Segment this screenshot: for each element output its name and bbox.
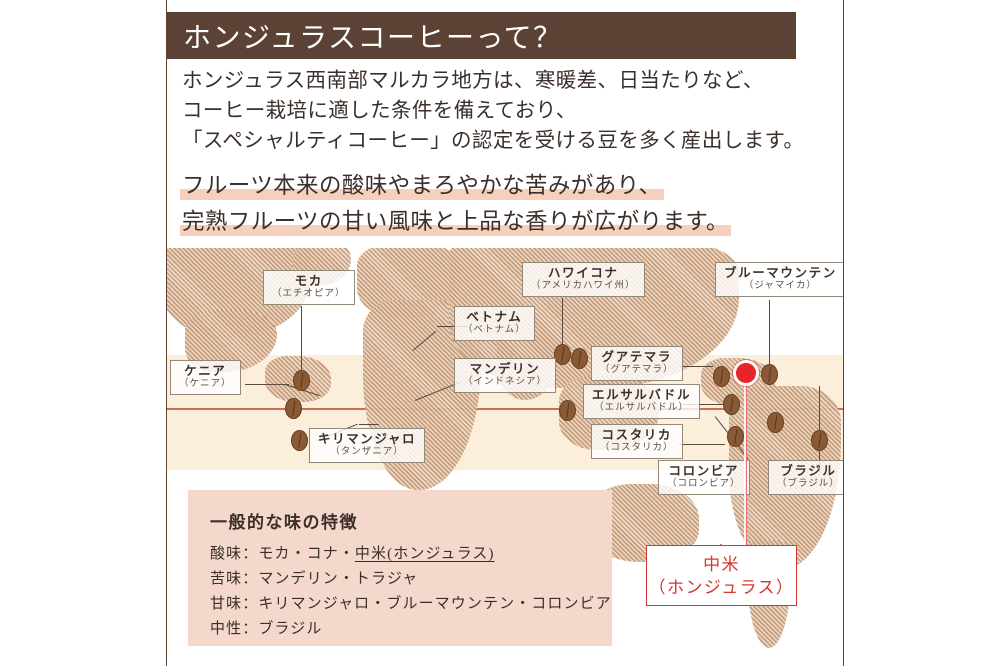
label-kenya[interactable]: ケニア （ケニア） xyxy=(170,360,241,395)
marker-vietnam[interactable] xyxy=(571,348,588,369)
legend-value-sweetness: キリマンジャロ・ブルーマウンテン・コロンビア xyxy=(258,596,611,612)
label-guatemala[interactable]: グアテマラ （グアテマラ） xyxy=(591,346,683,381)
legend-row-bitterness: 苦味：マンデリン・トラジャ xyxy=(210,567,612,592)
highlight-line-1: フルーツ本来の酸味やまろやかな苦みがあり、 xyxy=(180,168,664,204)
label-costa-rica-region: （コスタリカ） xyxy=(600,443,674,454)
label-brazil-name: ブラジル xyxy=(777,464,840,478)
marker-moka[interactable] xyxy=(293,370,310,391)
legend-value-acidity: モカ・コナ・ xyxy=(258,546,355,562)
label-mandheling[interactable]: マンデリン （インドネシア） xyxy=(454,358,556,393)
intro-line-2: コーヒー栽培に適した条件を備えており、 xyxy=(182,96,832,126)
marker-kilimanjaro[interactable] xyxy=(291,430,308,451)
leader-kona xyxy=(562,298,563,346)
leader-moka xyxy=(301,306,302,376)
label-moka-region: （エチオピア） xyxy=(272,289,346,300)
label-el-salvador[interactable]: エルサルバドル （エルサルバドル） xyxy=(583,384,700,419)
label-costa-rica[interactable]: コスタリカ （コスタリカ） xyxy=(591,424,683,459)
label-moka-name: モカ xyxy=(272,274,346,288)
marker-colombia[interactable] xyxy=(767,412,784,433)
label-colombia-name: コロンビア xyxy=(667,464,741,478)
label-vietnam-region: （ベトナム） xyxy=(463,325,526,336)
label-brazil[interactable]: ブラジル （ブラジル） xyxy=(768,460,843,495)
label-colombia[interactable]: コロンビア （コロンビア） xyxy=(658,460,750,495)
label-kenya-region: （ケニア） xyxy=(179,379,232,390)
leader-kenya xyxy=(245,384,289,385)
legend-value-bitterness: マンデリン・トラジャ xyxy=(258,571,418,587)
label-mandheling-name: マンデリン xyxy=(463,362,547,376)
marker-brazil[interactable] xyxy=(811,430,828,451)
honduras-callout-box[interactable]: 中米 （ホンジュラス） xyxy=(646,545,797,606)
label-colombia-region: （コロンビア） xyxy=(667,479,741,490)
intro-line-1: ホンジュラス西南部マルカラ地方は、寒暖差、日当たりなど、 xyxy=(182,66,832,96)
label-kona-name: ハワイコナ xyxy=(531,266,636,280)
marker-honduras-highlight[interactable] xyxy=(733,360,759,386)
label-kenya-name: ケニア xyxy=(179,364,232,378)
marker-blue-mountain[interactable] xyxy=(761,364,778,385)
marker-costa-rica[interactable] xyxy=(727,426,744,447)
marker-el-salvador[interactable] xyxy=(723,394,740,415)
label-vietnam[interactable]: ベトナム （ベトナム） xyxy=(454,306,535,341)
label-kilimanjaro[interactable]: キリマンジャロ （タンザニア） xyxy=(309,428,425,463)
leader-kilimanjaro-h xyxy=(359,424,379,425)
label-blue-mountain-name: ブルーマウンテン xyxy=(724,266,837,280)
leader-blue-mountain xyxy=(769,300,770,366)
leader-guatemala xyxy=(679,366,713,367)
marker-kenya[interactable] xyxy=(285,398,302,419)
label-kona[interactable]: ハワイコナ （アメリカハワイ州） xyxy=(522,262,645,297)
infographic-page: ホンジュラスコーヒーって？ ホンジュラス西南部マルカラ地方は、寒暖差、日当たりな… xyxy=(0,0,1000,666)
label-costa-rica-name: コスタリカ xyxy=(600,428,674,442)
legend-label-bitterness: 苦味： xyxy=(210,571,258,587)
label-blue-mountain[interactable]: ブルーマウンテン （ジャマイカ） xyxy=(715,262,843,297)
label-guatemala-name: グアテマラ xyxy=(600,350,674,364)
legend-row-neutral: 中性：ブラジル xyxy=(210,617,612,642)
marker-mandheling[interactable] xyxy=(559,400,576,421)
taste-legend-box: 一般的な味の特徴 酸味：モカ・コナ・中米(ホンジュラス) 苦味：マンデリン・トラ… xyxy=(188,490,612,646)
callout-line-1: 中米 xyxy=(703,553,740,576)
marker-kona[interactable] xyxy=(554,344,571,365)
frame-rule-right xyxy=(843,0,844,666)
label-brazil-region: （ブラジル） xyxy=(777,479,840,490)
legend-label-acidity: 酸味： xyxy=(210,546,258,562)
label-moka[interactable]: モカ （エチオピア） xyxy=(263,270,355,305)
label-kilimanjaro-region: （タンザニア） xyxy=(318,447,416,458)
legend-row-sweetness: 甘味：キリマンジャロ・ブルーマウンテン・コロンビア xyxy=(210,592,612,617)
page-title: ホンジュラスコーヒーって？ xyxy=(167,16,563,56)
label-vietnam-name: ベトナム xyxy=(463,310,526,324)
legend-value-neutral: ブラジル xyxy=(258,621,322,637)
highlight-line-2: 完熟フルーツの甘い風味と上品な香りが広がります。 xyxy=(180,204,731,240)
legend-title: 一般的な味の特徴 xyxy=(210,508,612,533)
intro-paragraph: ホンジュラス西南部マルカラ地方は、寒暖差、日当たりなど、 コーヒー栽培に適した条… xyxy=(182,66,832,156)
label-kilimanjaro-name: キリマンジャロ xyxy=(318,432,416,446)
callout-line-2: （ホンジュラス） xyxy=(649,576,795,599)
legend-row-acidity: 酸味：モカ・コナ・中米(ホンジュラス) xyxy=(210,542,612,567)
label-mandheling-region: （インドネシア） xyxy=(463,377,547,388)
label-kona-region: （アメリカハワイ州） xyxy=(531,281,636,292)
label-el-salvador-region: （エルサルバドル） xyxy=(592,403,691,414)
legend-label-sweetness: 甘味： xyxy=(210,596,258,612)
marker-guatemala[interactable] xyxy=(713,366,730,387)
highlight-statement: フルーツ本来の酸味やまろやかな苦みがあり、 完熟フルーツの甘い風味と上品な香りが… xyxy=(180,168,840,240)
label-blue-mountain-region: （ジャマイカ） xyxy=(724,281,837,292)
legend-label-neutral: 中性： xyxy=(210,621,258,637)
label-guatemala-region: （グアテマラ） xyxy=(600,365,674,376)
intro-line-3: 「スペシャルティコーヒー」の認定を受ける豆を多く産出します。 xyxy=(182,126,832,156)
label-el-salvador-name: エルサルバドル xyxy=(592,388,691,402)
leader-costa-rica xyxy=(679,444,725,445)
header-bar: ホンジュラスコーヒーって？ xyxy=(167,12,796,59)
legend-value-acidity-underlined: 中米(ホンジュラス) xyxy=(355,546,495,562)
honduras-connector-line xyxy=(745,380,747,570)
leader-brazil xyxy=(819,386,820,470)
